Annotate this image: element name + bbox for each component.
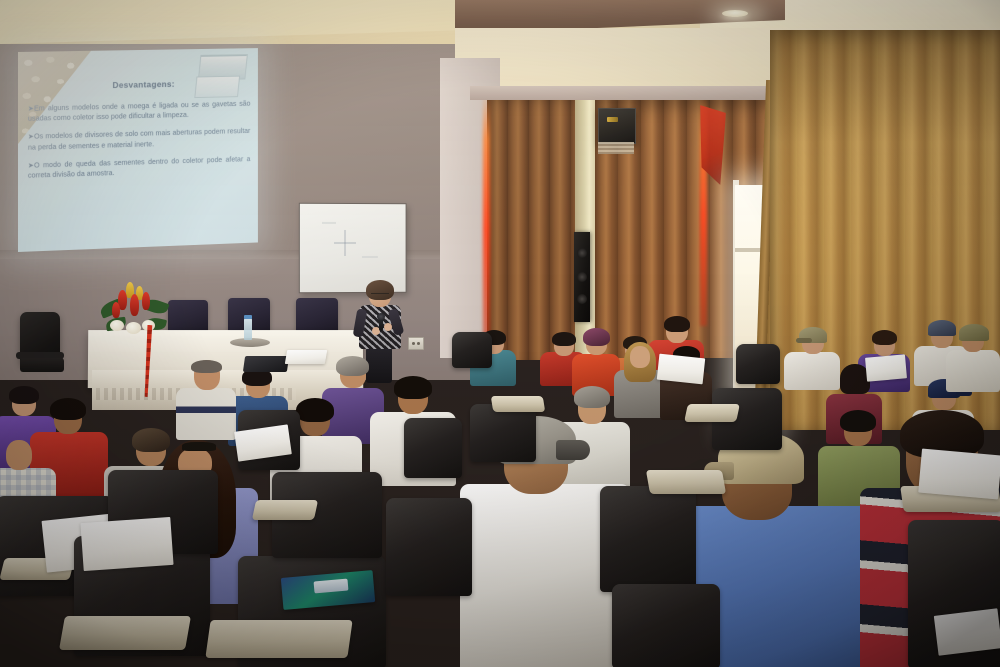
projected-slide: Desvantagens: ➤Em alguns modelos onde a … — [18, 48, 258, 252]
person-bald-man — [176, 360, 236, 436]
person-hair — [394, 376, 432, 399]
person-head — [630, 346, 650, 368]
ac-indicator-light — [607, 117, 618, 122]
person-orange-top — [572, 330, 620, 392]
tablet-arm-surface — [59, 616, 191, 650]
stage-chair — [168, 300, 208, 334]
person-hair — [664, 316, 690, 332]
person-hair — [574, 386, 610, 408]
person-torso — [176, 388, 236, 440]
window-light-leak — [483, 92, 490, 354]
slide-body: ➤Em alguns modelos onde a moega é ligada… — [28, 99, 250, 189]
tablet-arm-chair — [600, 486, 696, 592]
tablet-arm-chair — [736, 344, 780, 384]
laptop-on-table — [243, 356, 289, 372]
water-bottle-cap — [244, 315, 252, 319]
tropical-flower-arrangement — [100, 282, 170, 340]
office-chair-seat — [20, 358, 64, 372]
slide-bullet: ➤Os modelos de divisores de solo com mai… — [28, 126, 250, 152]
person-torso — [946, 350, 1000, 392]
person-head — [6, 440, 32, 470]
slide-bullet: ➤O modo de queda das sementes dentro do … — [28, 154, 250, 181]
wall-power-outlet — [408, 337, 424, 350]
air-conditioner-unit — [598, 108, 636, 144]
tablet-arm-surface — [252, 500, 318, 520]
whiteboard — [299, 203, 407, 293]
handout-paper — [80, 517, 173, 571]
person-cap — [959, 324, 989, 341]
microphone-head — [377, 313, 385, 320]
seed-divider-apparatus — [195, 54, 248, 98]
stage-chair — [296, 298, 338, 334]
handout-paper — [918, 449, 1000, 500]
person-hair — [336, 356, 369, 376]
speaker-tower — [574, 232, 590, 322]
seminar-room-photo: Desvantagens: ➤Em alguns modelos onde a … — [0, 0, 1000, 667]
tablet-arm-surface — [684, 404, 740, 422]
cap-brim — [556, 440, 590, 460]
tablet-arm-chair — [612, 584, 720, 667]
slide-title: Desvantagens: — [112, 79, 174, 90]
tablet-arm-chair — [386, 498, 472, 596]
person-hair — [50, 398, 86, 420]
person-olive-cap — [946, 326, 1000, 388]
recessed-downlight — [722, 10, 748, 17]
tablet-arm-chair — [470, 404, 536, 462]
air-conditioner-vent — [598, 142, 634, 154]
tablet-arm-surface — [205, 620, 352, 658]
person-hair — [583, 328, 610, 346]
handout-paper — [657, 354, 705, 385]
cap-brim — [796, 338, 812, 343]
sunglasses-on-head — [182, 442, 216, 451]
person-hair — [191, 360, 222, 373]
presenter-glasses — [371, 293, 389, 298]
person-hair — [296, 398, 334, 422]
person-hair — [872, 330, 897, 345]
tablet-arm-surface — [646, 470, 726, 494]
tablet-arm-chair — [404, 418, 462, 478]
slide-bullet: ➤Em alguns modelos onde a moega é ligada… — [28, 99, 250, 124]
handout-paper — [934, 608, 1000, 656]
tablet-arm-surface — [491, 396, 546, 412]
curtain-pelmet — [470, 86, 790, 100]
handout-paper — [865, 354, 907, 381]
tablet-arm-chair — [452, 332, 492, 368]
presenter-hand — [384, 323, 392, 331]
papers-on-table — [285, 350, 327, 364]
water-bottle — [244, 318, 252, 340]
